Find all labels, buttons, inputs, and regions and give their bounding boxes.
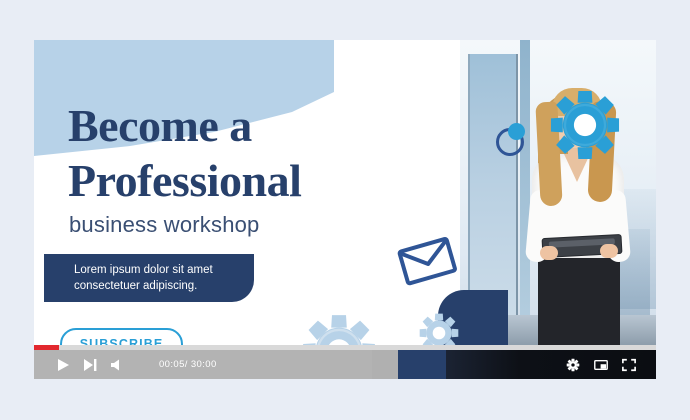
- circle-filled-icon: [508, 123, 525, 140]
- headline-line-1: Become a: [68, 98, 448, 153]
- subscribe-button[interactable]: SUBSCRIBE: [60, 328, 183, 345]
- play-icon[interactable]: [56, 358, 70, 372]
- gear-icon-medium: [300, 312, 378, 345]
- video-player-card: Become a Professional business workshop …: [34, 40, 656, 379]
- video-canvas: Become a Professional business workshop …: [34, 40, 656, 345]
- photo-woman-skirt: [538, 252, 620, 345]
- gear-icon-large: [548, 88, 622, 162]
- time-display: 00:05/ 30:00: [159, 359, 217, 370]
- miniplayer-icon[interactable]: [594, 358, 608, 372]
- photo-woman-hand-left: [540, 246, 558, 260]
- gear-icon-settings[interactable]: [566, 358, 580, 372]
- gear-icon-small: [418, 312, 460, 345]
- headline-line-2: Professional: [68, 153, 448, 208]
- player-right-controls: [446, 350, 656, 379]
- player-control-bar: 00:05/ 30:00: [34, 350, 656, 379]
- page-title: Become a Professional: [68, 98, 448, 208]
- photo-glass-panel-right: [520, 40, 530, 345]
- screenshot-stage: Become a Professional business workshop …: [0, 0, 690, 420]
- control-bar-grey-segment: [372, 350, 398, 379]
- volume-icon[interactable]: [110, 358, 124, 372]
- photo-woman-hand-right: [600, 244, 618, 258]
- player-left-controls: 00:05/ 30:00: [34, 358, 217, 372]
- callout-box: Lorem ipsum dolor sit amet consectetuer …: [44, 254, 254, 302]
- next-track-icon[interactable]: [83, 358, 97, 372]
- envelope-icon: [396, 235, 460, 291]
- fullscreen-icon[interactable]: [622, 358, 636, 372]
- subtitle: business workshop: [69, 212, 260, 238]
